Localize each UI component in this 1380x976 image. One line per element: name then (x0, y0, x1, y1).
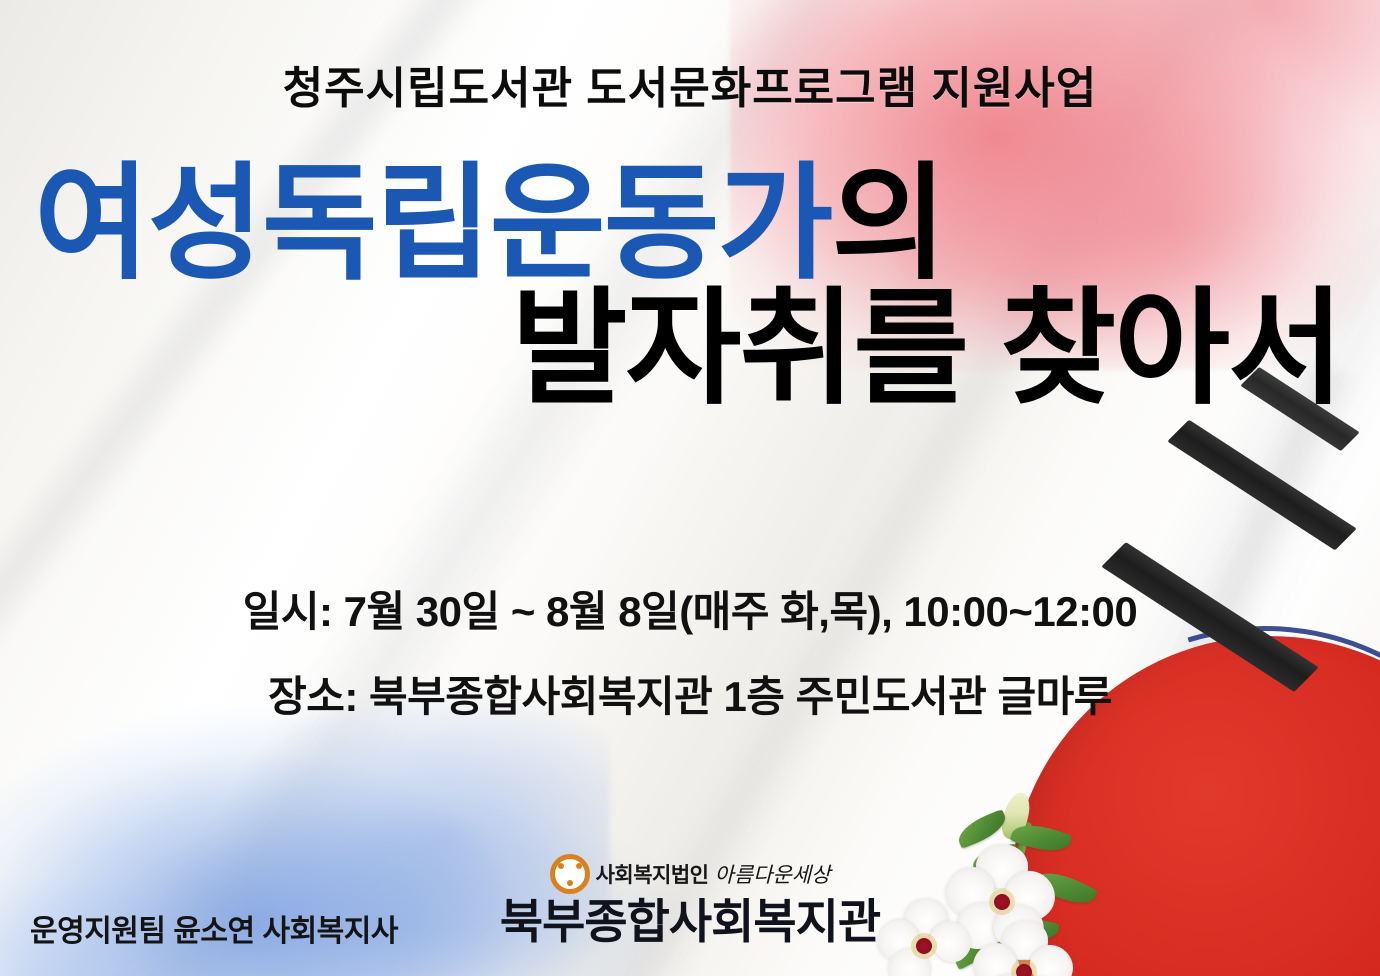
logo-corporate-label: 사회복지법인 (596, 859, 709, 889)
event-location: 장소: 북부종합사회복지관 1층 주민도서관 글마루 (0, 663, 1380, 724)
event-info: 일시: 7월 30일 ~ 8월 8일(매주 화,목), 10:00~12:00 … (0, 578, 1380, 748)
logo-top-row: 사회복지법인 아름다운세상 (480, 854, 900, 894)
logo-organization-name: 북부종합사회복지관 (480, 896, 900, 948)
poster-canvas: 청주시립도서관 도서문화프로그램 지원사업 여성독립운동가의 발자취를 찾아서 … (0, 0, 1380, 976)
title-line-1: 여성독립운동가의 (0, 158, 1380, 289)
staff-credit: 운영지원팀 윤소연 사회복지사 (30, 906, 398, 950)
poster-title: 여성독립운동가의 발자취를 찾아서 (0, 158, 1380, 414)
orange-three-dot-circle-icon (550, 854, 590, 894)
title-line-2: 발자취를 찾아서 (0, 283, 1380, 414)
organization-logo: 사회복지법인 아름다운세상 북부종합사회복지관 (480, 854, 900, 948)
title-highlight-blue: 여성독립운동가 (34, 153, 831, 294)
logo-corporate-name: 아름다운세상 (715, 859, 831, 889)
poster-content: 청주시립도서관 도서문화프로그램 지원사업 여성독립운동가의 발자취를 찾아서 … (0, 0, 1380, 976)
event-datetime: 일시: 7월 30일 ~ 8월 8일(매주 화,목), 10:00~12:00 (0, 578, 1380, 639)
program-kicker: 청주시립도서관 도서문화프로그램 지원사업 (0, 52, 1380, 116)
title-suffix-black: 의 (831, 153, 945, 294)
